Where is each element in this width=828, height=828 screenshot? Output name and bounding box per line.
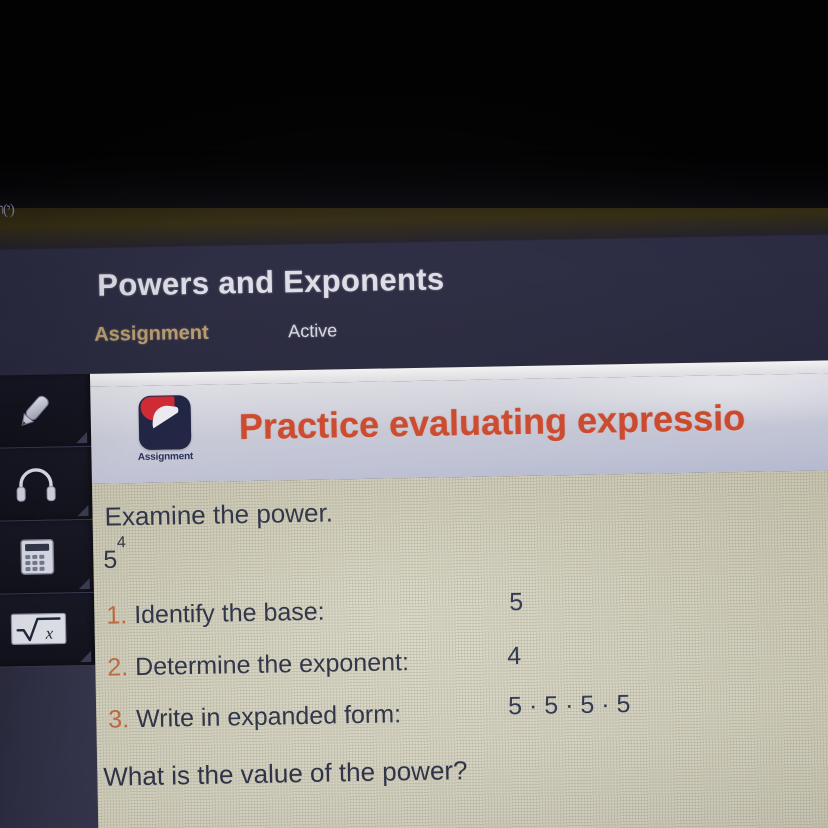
pencil-icon [11,388,58,435]
step-text: Identify the base: [134,598,325,629]
question-text: What is the value of the power? [103,755,468,793]
page-title: Powers and Exponents [97,261,445,303]
lesson-banner: Assignment Practice evaluating expressio [90,373,828,484]
resize-corner [76,432,87,443]
power-expression: 54 [103,545,126,575]
power-exponent: 4 [117,534,126,551]
assignment-label: Assignment [94,322,209,347]
screen-content: Powers and Exponents Assignment Active [0,198,828,828]
resize-corner [80,651,91,662]
resize-corner [79,578,90,589]
step-item: 2. Determine the exponent: [107,648,409,683]
resize-corner [77,505,88,516]
intro-text: Examine the power. [104,497,333,532]
power-base: 5 [103,546,117,574]
svg-text:x: x [44,624,53,643]
step-number: 1. [106,601,127,629]
toolbar-item-math[interactable]: x [0,593,95,668]
lesson-title: Practice evaluating expressio [239,397,746,448]
toolbar-item-audio[interactable] [0,447,93,522]
assignment-badge-icon [138,395,191,450]
headphones-icon [12,463,59,506]
photographed-screen: י)ו) Powers and Exponents Assignment Act… [0,0,828,828]
assignment-badge: Assignment [130,395,199,474]
step-text: Determine the exponent: [135,648,409,681]
step-answer: 5 · 5 · 5 · 5 [508,690,631,721]
calculator-icon [14,535,59,580]
bezel-glow [0,150,828,208]
assignment-badge-label: Assignment [131,451,199,463]
step-answer: 5 [509,588,523,617]
bezel-partial-text: י)ו) [0,202,14,219]
toolbar-item-calculator[interactable] [0,520,94,595]
status-badge: Active [288,320,337,342]
step-number: 2. [107,653,128,681]
lesson-content: Examine the power. 54 1. Identify the ba… [92,470,828,828]
step-item: 3. Write in expanded form: [108,700,401,734]
square-root-icon: x [9,607,68,652]
tool-sidebar: x [0,374,99,828]
toolbar-item-highlighter[interactable] [0,374,91,449]
step-answer: 4 [507,642,521,671]
step-text: Write in expanded form: [136,700,401,733]
step-item: 1. Identify the base: [106,598,325,631]
step-number: 3. [108,705,129,733]
